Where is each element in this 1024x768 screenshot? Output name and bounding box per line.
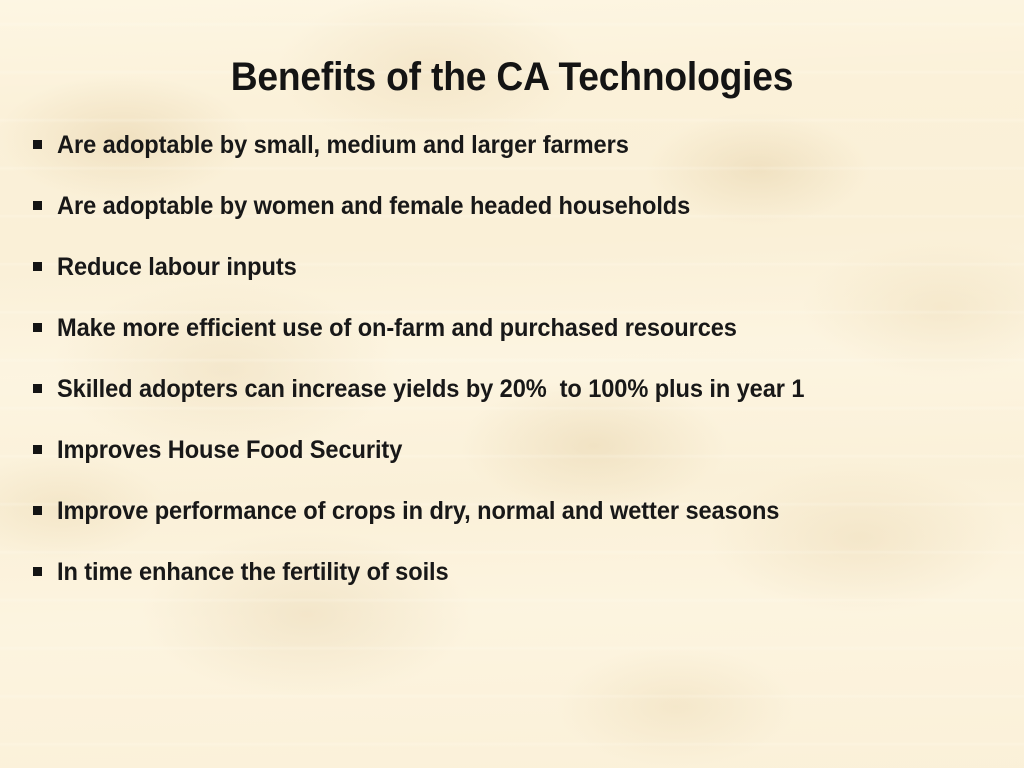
square-bullet-icon xyxy=(33,323,42,332)
list-item-label: In time enhance the fertility of soils xyxy=(57,557,449,587)
list-item: Improve performance of crops in dry, nor… xyxy=(0,480,1024,541)
list-item-label: Improves House Food Security xyxy=(57,435,402,465)
slide-title: Benefits of the CA Technologies xyxy=(36,53,988,101)
list-item: Are adoptable by women and female headed… xyxy=(0,175,1024,236)
list-item: Make more efficient use of on-farm and p… xyxy=(0,297,1024,358)
square-bullet-icon xyxy=(33,262,42,271)
list-item-label: Improve performance of crops in dry, nor… xyxy=(57,496,779,526)
square-bullet-icon xyxy=(33,140,42,149)
square-bullet-icon xyxy=(33,445,42,454)
list-item: Skilled adopters can increase yields by … xyxy=(0,358,1024,419)
presentation-slide: Benefits of the CA Technologies Are adop… xyxy=(0,0,1024,768)
list-item-label: Skilled adopters can increase yields by … xyxy=(57,374,804,404)
list-item-label: Make more efficient use of on-farm and p… xyxy=(57,313,737,343)
list-item: Are adoptable by small, medium and large… xyxy=(0,114,1024,175)
square-bullet-icon xyxy=(33,506,42,515)
list-item-label: Reduce labour inputs xyxy=(57,252,297,282)
slide-content: Benefits of the CA Technologies Are adop… xyxy=(0,0,1024,768)
square-bullet-icon xyxy=(33,201,42,210)
list-item-label: Are adoptable by small, medium and large… xyxy=(57,130,629,160)
benefits-bullet-list: Are adoptable by small, medium and large… xyxy=(0,114,1024,602)
list-item-label: Are adoptable by women and female headed… xyxy=(57,191,690,221)
list-item: In time enhance the fertility of soils xyxy=(0,541,1024,602)
square-bullet-icon xyxy=(33,567,42,576)
list-item: Improves House Food Security xyxy=(0,419,1024,480)
square-bullet-icon xyxy=(33,384,42,393)
list-item: Reduce labour inputs xyxy=(0,236,1024,297)
